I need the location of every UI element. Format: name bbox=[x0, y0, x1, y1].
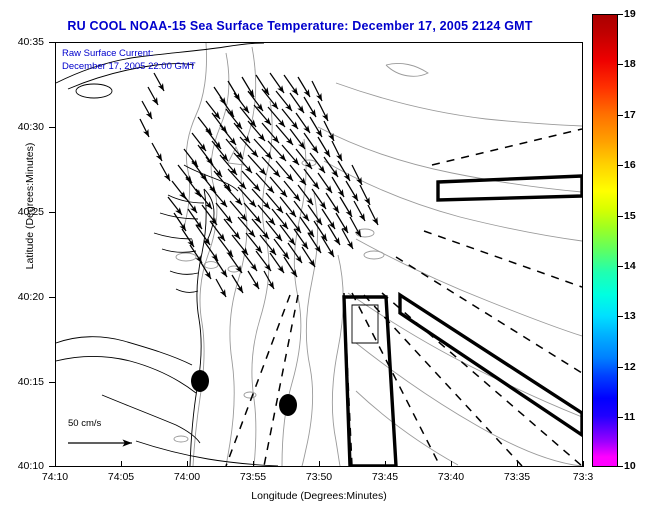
x-tick-label: 74:10 bbox=[25, 471, 85, 483]
y-axis-title: Latitude (Degrees:Minutes) bbox=[24, 116, 36, 296]
figure-title: RU COOL NOAA-15 Sea Surface Temperature:… bbox=[0, 19, 600, 33]
x-tick-label: 74:05 bbox=[91, 471, 151, 483]
x-tick bbox=[583, 461, 584, 467]
station-markers bbox=[191, 370, 297, 416]
map-graphics bbox=[56, 43, 582, 466]
annotation-line-2: December 17, 2005 22:00 GMT bbox=[62, 60, 196, 73]
colorbar-tick-label: 17 bbox=[624, 109, 636, 121]
colorbar-tick-label: 12 bbox=[624, 361, 636, 373]
x-tick bbox=[253, 461, 254, 467]
y-tick bbox=[49, 127, 55, 128]
colorbar-tick-label: 16 bbox=[624, 159, 636, 171]
y-tick-label: 40:30 bbox=[0, 121, 44, 133]
x-tick bbox=[187, 461, 188, 467]
bathymetry-contours bbox=[174, 43, 582, 466]
x-tick-label: 73:40 bbox=[421, 471, 481, 483]
scale-legend-label: 50 cm/s bbox=[68, 418, 101, 429]
y-tick bbox=[49, 466, 55, 467]
x-tick bbox=[55, 461, 56, 467]
transect-boxes bbox=[344, 176, 582, 466]
colorbar-tick-label: 14 bbox=[624, 260, 636, 272]
sst-figure: RU COOL NOAA-15 Sea Surface Temperature:… bbox=[0, 0, 651, 519]
station-marker bbox=[279, 394, 297, 416]
annotation-line-1: Raw Surface Current: bbox=[62, 47, 196, 60]
scale-arrow-icon bbox=[64, 432, 174, 454]
scale-legend: 50 cm/s bbox=[64, 418, 174, 452]
colorbar-tick-label: 15 bbox=[624, 210, 636, 222]
x-tick-label: 73:45 bbox=[355, 471, 415, 483]
y-tick-label: 40:15 bbox=[0, 376, 44, 388]
colorbar-tick bbox=[618, 367, 623, 368]
map-annotation: Raw Surface Current: December 17, 2005 2… bbox=[62, 47, 196, 73]
x-tick-label: 74:00 bbox=[157, 471, 217, 483]
x-tick-label: 73:35 bbox=[487, 471, 547, 483]
x-tick bbox=[385, 461, 386, 467]
x-tick bbox=[451, 461, 452, 467]
colorbar-tick-label: 11 bbox=[624, 411, 635, 423]
x-axis-title: Longitude (Degrees:Minutes) bbox=[55, 490, 583, 502]
y-tick bbox=[49, 42, 55, 43]
x-tick bbox=[319, 461, 320, 467]
colorbar-tick-label: 10 bbox=[624, 460, 636, 472]
x-tick-label: 73:55 bbox=[223, 471, 283, 483]
x-tick-label: 73:50 bbox=[289, 471, 349, 483]
surface-current-vectors bbox=[140, 73, 378, 297]
y-tick-label: 40:25 bbox=[0, 206, 44, 218]
colorbar-tick bbox=[618, 417, 623, 418]
colorbar-tick bbox=[618, 316, 623, 317]
y-tick bbox=[49, 297, 55, 298]
colorbar-tick bbox=[618, 266, 623, 267]
x-tick bbox=[121, 461, 122, 467]
colorbar-tick bbox=[618, 115, 623, 116]
x-tick-label: 73:3 bbox=[553, 471, 613, 483]
temperature-colorbar[interactable] bbox=[592, 14, 618, 467]
colorbar-tick bbox=[618, 64, 623, 65]
colorbar-tick bbox=[618, 216, 623, 217]
map-plot-area[interactable]: Raw Surface Current: December 17, 2005 2… bbox=[55, 42, 583, 467]
y-tick bbox=[49, 382, 55, 383]
colorbar-tick bbox=[618, 14, 623, 15]
colorbar-tick bbox=[618, 466, 623, 467]
station-marker bbox=[191, 370, 209, 392]
colorbar-tick bbox=[618, 165, 623, 166]
colorbar-tick-label: 18 bbox=[624, 58, 636, 70]
y-tick-label: 40:20 bbox=[0, 291, 44, 303]
colorbar-tick-label: 19 bbox=[624, 8, 636, 20]
x-tick bbox=[517, 461, 518, 467]
y-tick-label: 40:35 bbox=[0, 36, 44, 48]
y-tick bbox=[49, 212, 55, 213]
y-tick-label: 40:10 bbox=[0, 460, 44, 472]
colorbar-tick-label: 13 bbox=[624, 310, 636, 322]
